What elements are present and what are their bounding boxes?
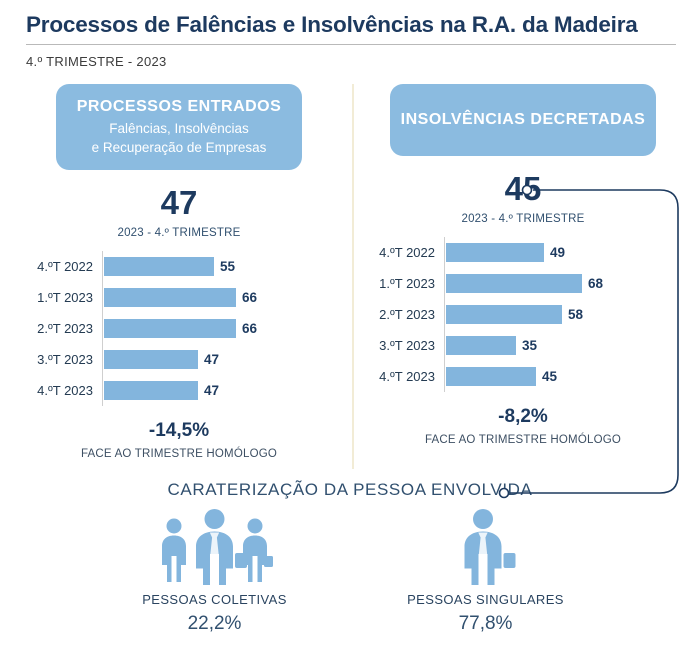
bar [104,350,198,369]
person-pct-coletivas: 22,2% [122,613,307,635]
bar-value-label: 45 [542,369,557,384]
bar-row: 1.ºT 202368 [358,268,688,299]
page-title: Processos de Falências e Insolvências na… [0,0,700,44]
people-breakdown: PESSOAS COLETIVAS 22,2% PESSOAS SINGULAR… [0,509,700,635]
person-label-coletivas: PESSOAS COLETIVAS [122,592,307,607]
bar-track: 66 [102,313,344,344]
bar-row: 4.ºT 202345 [358,361,688,392]
bar [104,319,236,338]
bar-row: 4.ºT 202255 [14,251,344,282]
panel-divider [352,84,354,469]
bar-row: 4.ºT 202347 [14,375,344,406]
yoy-change-label-processos: FACE AO TRIMESTRE HOMÓLOGO [14,448,344,460]
page-subtitle: 4.º TRIMESTRE - 2023 [0,45,700,69]
bar-value-label: 55 [220,259,235,274]
bar-track: 66 [102,282,344,313]
panel-header-subtitle-line1: Falências, Insolvências [66,120,292,138]
headline-period-processos: 2023 - 4.º TRIMESTRE [14,227,344,239]
panel-header-insolvencias-decretadas: INSOLVÊNCIAS DECRETADAS [390,84,656,156]
bar-value-label: 66 [242,321,257,336]
bar-track: 68 [444,268,688,299]
panel-header-subtitle-line2: e Recuperação de Empresas [66,139,292,157]
bar-row: 2.ºT 202358 [358,299,688,330]
bar [104,288,236,307]
bar-track: 47 [102,344,344,375]
bar-track: 58 [444,299,688,330]
panel-insolvencias-decretadas: INSOLVÊNCIAS DECRETADAS 45 2023 - 4.º TR… [358,84,688,446]
bar-category-label: 2.ºT 2023 [358,307,444,322]
bar-track: 55 [102,251,344,282]
bar-category-label: 3.ºT 2023 [14,352,102,367]
panel-header-title: PROCESSOS ENTRADOS [66,96,292,118]
yoy-change-insolvencias: -8,2% [358,406,688,428]
bar-category-label: 4.ºT 2022 [14,259,102,274]
bar-value-label: 47 [204,383,219,398]
yoy-change-processos: -14,5% [14,420,344,442]
bar-value-label: 47 [204,352,219,367]
panel-processos-entrados: PROCESSOS ENTRADOS Falências, Insolvênci… [14,84,344,460]
bar-row: 2.ºT 202366 [14,313,344,344]
bar-track: 49 [444,237,688,268]
bar-chart-insolvencias-decretadas: 4.ºT 2022491.ºT 2023682.ºT 2023583.ºT 20… [358,237,688,392]
panel-header-title: INSOLVÊNCIAS DECRETADAS [400,109,646,131]
bar-row: 3.ºT 202335 [358,330,688,361]
bar [104,257,214,276]
single-person-icon [393,509,578,585]
bar-category-label: 1.ºT 2023 [14,290,102,305]
bar-track: 45 [444,361,688,392]
bar-category-label: 2.ºT 2023 [14,321,102,336]
infographic-page: Processos de Falências e Insolvências na… [0,0,700,654]
person-block-coletivas: PESSOAS COLETIVAS 22,2% [122,509,307,635]
headline-number-processos: 47 [14,186,344,219]
bar-track: 47 [102,375,344,406]
headline-number-insolvencias: 45 [358,172,688,205]
panels-container: PROCESSOS ENTRADOS Falências, Insolvênci… [0,84,700,476]
bar-category-label: 4.ºT 2023 [358,369,444,384]
bar [446,305,562,324]
bar [446,336,516,355]
headline-period-insolvencias: 2023 - 4.º TRIMESTRE [358,213,688,225]
bar-category-label: 1.ºT 2023 [358,276,444,291]
bar-value-label: 49 [550,245,565,260]
bar-value-label: 68 [588,276,603,291]
bottom-section: CARATERIZAÇÃO DA PESSOA ENVOLVIDA [0,480,700,635]
bar-row: 3.ºT 202347 [14,344,344,375]
bar [446,274,582,293]
bar-value-label: 66 [242,290,257,305]
group-of-people-icon [122,509,307,585]
bar-category-label: 4.ºT 2023 [14,383,102,398]
bar-track: 35 [444,330,688,361]
person-pct-singulares: 77,8% [393,613,578,635]
bar [104,381,198,400]
bar-value-label: 58 [568,307,583,322]
bottom-section-title: CARATERIZAÇÃO DA PESSOA ENVOLVIDA [0,480,700,500]
header: Processos de Falências e Insolvências na… [0,0,700,69]
bar [446,243,544,262]
bar-category-label: 4.ºT 2022 [358,245,444,260]
panel-header-processos-entrados: PROCESSOS ENTRADOS Falências, Insolvênci… [56,84,302,170]
bar-row: 1.ºT 202366 [14,282,344,313]
bar [446,367,536,386]
bar-value-label: 35 [522,338,537,353]
person-block-singulares: PESSOAS SINGULARES 77,8% [393,509,578,635]
person-label-singulares: PESSOAS SINGULARES [393,592,578,607]
bar-row: 4.ºT 202249 [358,237,688,268]
bar-chart-processos-entrados: 4.ºT 2022551.ºT 2023662.ºT 2023663.ºT 20… [14,251,344,406]
yoy-change-label-insolvencias: FACE AO TRIMESTRE HOMÓLOGO [358,434,688,446]
bar-category-label: 3.ºT 2023 [358,338,444,353]
